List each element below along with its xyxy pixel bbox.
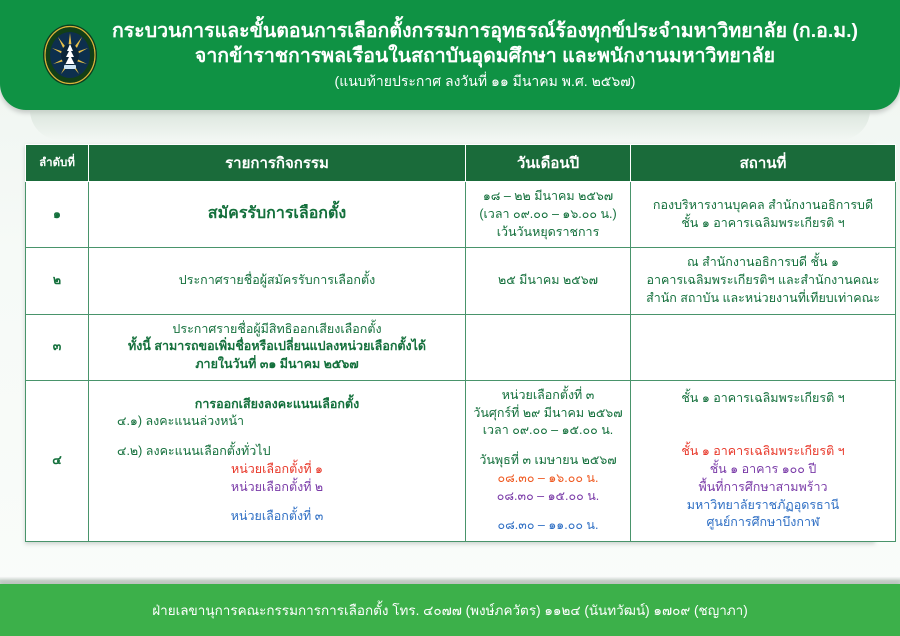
row-2-location-line-2: อาคารเฉลิมพระเกียรติฯ และสำนักงานคณะ <box>647 273 880 287</box>
row-4-location-4: มหาวิทยาลัยราชภัฏอุดรธานี <box>637 497 889 515</box>
page-title-line-2: จากข้าราชการพลเรือนในสถาบันอุดมศึกษา และ… <box>112 44 858 68</box>
row-1-date-line-1: ๑๘ – ๒๒ มีนาคม ๒๕๖๗ <box>483 189 613 203</box>
table-header: ลำดับที่ รายการกิจกรรม วันเดือนปี สถานที… <box>26 145 896 182</box>
header-banner: กระบวนการและขั้นตอนการเลือกตั้งกรรมการอุ… <box>0 0 900 110</box>
column-header-activity: รายการกิจกรรม <box>89 145 466 182</box>
row-4-unit-3-label: หน่วยเลือกตั้งที่ ๓ <box>95 508 459 526</box>
footer-separator <box>0 576 900 584</box>
row-3-no: ๓ <box>26 314 89 380</box>
header-title-block: กระบวนการและขั้นตอนการเลือกตั้งกรรมการอุ… <box>112 19 858 90</box>
row-2-date-line-1: ๒๕ มีนาคม ๒๕๖๗ <box>498 273 598 287</box>
row-1-date: ๑๘ – ๒๒ มีนาคม ๒๕๖๗ (เวลา ๐๙.๐๐ – ๑๖.๐๐ … <box>466 182 631 248</box>
row-4-general-date-header: วันพุธที่ ๓ เมษายน ๒๕๖๗ <box>472 452 624 470</box>
row-3-activity-line-2: ทั้งนี้ สามารถขอเพิ่มชื่อหรือเปลี่ยนแปลง… <box>128 339 426 353</box>
table-row: ๓ ประกาศรายชื่อผู้มีสิทธิออกเสียงเลือกตั… <box>26 314 896 380</box>
row-4-location-spacer-3 <box>637 431 889 443</box>
row-3-activity-line-1: ประกาศรายชื่อผู้มีสิทธิออกเสียงเลือกตั้ง <box>172 322 381 336</box>
row-4-general-activity: ๔.๒) ลงคะแนนเลือกตั้งทั่วไป <box>95 443 459 461</box>
page-title-line-1: กระบวนการและขั้นตอนการเลือกตั้งกรรมการอุ… <box>112 19 858 43</box>
column-header-location: สถานที่ <box>631 145 896 182</box>
table-row: ๒ ประกาศรายชื่อผู้สมัครรับการเลือกตั้ง ๒… <box>26 248 896 314</box>
row-4-activity-spacer <box>95 431 459 443</box>
row-4-time-2: ๐๘.๓๐ – ๑๕.๐๐ น. <box>472 488 624 506</box>
row-4-advance-date-line-2: วันศุกร์ที่ ๒๙ มีนาคม ๒๕๖๗ <box>473 406 622 420</box>
row-1-date-line-2: (เวลา ๐๙.๐๐ – ๑๖.๐๐ น.) <box>479 207 616 221</box>
row-4-advance-location-line-1: ชั้น ๑ อาคารเฉลิมพระเกียรติ ฯ <box>681 391 844 405</box>
footer-bar: ฝ่ายเลขานุการคณะกรรมการการเลือกตั้ง โทร.… <box>0 584 900 636</box>
row-4-unit-2-label: หน่วยเลือกตั้งที่ ๒ <box>95 479 459 497</box>
row-4-location-1: ชั้น ๑ อาคารเฉลิมพระเกียรติ ฯ <box>637 443 889 461</box>
row-1-location: กองบริหารงานบุคคล สำนักงานอธิการบดี ชั้น… <box>631 182 896 248</box>
row-3-location <box>631 314 896 380</box>
header-inner: กระบวนการและขั้นตอนการเลือกตั้งกรรมการอุ… <box>42 19 858 90</box>
row-4-date-spacer-1 <box>472 440 624 452</box>
row-3-date <box>466 314 631 380</box>
university-seal-icon <box>42 24 98 86</box>
row-3-activity: ประกาศรายชื่อผู้มีสิทธิออกเสียงเลือกตั้ง… <box>89 314 466 380</box>
row-4-no: ๔ <box>26 380 89 541</box>
row-3-activity-line-3: ภายในวันที่ ๓๑ มีนาคม ๒๕๖๗ <box>195 357 358 371</box>
row-2-date: ๒๕ มีนาคม ๒๕๖๗ <box>466 248 631 314</box>
row-1-date-line-3: เว้นวันหยุดราชการ <box>497 225 600 239</box>
schedule-table: ลำดับที่ รายการกิจกรรม วันเดือนปี สถานที… <box>25 144 896 542</box>
table-row: ๔ การออกเสียงลงคะแนนเลือกตั้ง ๔.๑) ลงคะแ… <box>26 380 896 541</box>
table-body: ๑ สมัครรับการเลือกตั้ง ๑๘ – ๒๒ มีนาคม ๒๕… <box>26 182 896 542</box>
row-4-location-3: พื้นที่การศึกษาสามพร้าว <box>637 479 889 497</box>
row-2-location-line-3: สำนัก สถาบัน และหน่วยงานที่เทียบเท่าคณะ <box>646 291 880 305</box>
table-header-row: ลำดับที่ รายการกิจกรรม วันเดือนปี สถานที… <box>26 145 896 182</box>
column-header-no: ลำดับที่ <box>26 145 89 182</box>
row-4-unit-spacer <box>95 496 459 508</box>
row-2-no: ๒ <box>26 248 89 314</box>
row-4-date-spacer-2 <box>472 505 624 517</box>
row-1-activity-text: สมัครรับการเลือกตั้ง <box>208 205 346 222</box>
row-2-location: ณ สำนักงานอธิการบดี ชั้น ๑ อาคารเฉลิมพระ… <box>631 248 896 314</box>
table-row: ๑ สมัครรับการเลือกตั้ง ๑๘ – ๒๒ มีนาคม ๒๕… <box>26 182 896 248</box>
page-subtitle: (แนบท้ายประกาศ ลงวันที่ ๑๑ มีนาคม พ.ศ. ๒… <box>112 73 858 91</box>
row-4-time-3: ๐๘.๓๐ – ๑๑.๐๐ น. <box>472 517 624 535</box>
row-1-location-line-2: ชั้น ๑ อาคารเฉลิมพระเกียรติ ฯ <box>681 216 844 230</box>
column-header-date: วันเดือนปี <box>466 145 631 182</box>
row-4-location: ชั้น ๑ อาคารเฉลิมพระเกียรติ ฯ ชั้น ๑ อาค… <box>631 380 896 541</box>
row-4-location-2: ชั้น ๑ อาคาร ๑๐๐ ปี <box>637 461 889 479</box>
footer-contact-text: ฝ่ายเลขานุการคณะกรรมการการเลือกตั้ง โทร.… <box>152 599 748 621</box>
row-4-activity: การออกเสียงลงคะแนนเลือกตั้ง ๔.๑) ลงคะแนน… <box>89 380 466 541</box>
row-4-unit-1-label: หน่วยเลือกตั้งที่ ๑ <box>95 461 459 479</box>
row-4-advance-date-line-1: หน่วยเลือกตั้งที่ ๓ <box>502 388 595 402</box>
row-1-no: ๑ <box>26 182 89 248</box>
schedule-table-wrapper: ลำดับที่ รายการกิจกรรม วันเดือนปี สถานที… <box>25 144 875 542</box>
row-4-location-spacer-1 <box>637 407 889 419</box>
row-4-time-1: ๐๘.๓๐ – ๑๖.๐๐ น. <box>472 470 624 488</box>
row-4-location-spacer-2 <box>637 419 889 431</box>
row-2-activity: ประกาศรายชื่อผู้สมัครรับการเลือกตั้ง <box>89 248 466 314</box>
row-4-activity-title: การออกเสียงลงคะแนนเลือกตั้ง <box>195 397 359 411</box>
row-1-location-line-1: กองบริหารงานบุคคล สำนักงานอธิการบดี <box>653 198 873 212</box>
header-sheen <box>30 110 870 140</box>
row-4-location-5: ศูนย์การศึกษาบึงกาฬ <box>637 514 889 532</box>
row-1-activity: สมัครรับการเลือกตั้ง <box>89 182 466 248</box>
row-4-advance-activity: ๔.๑) ลงคะแนนล่วงหน้า <box>95 413 459 431</box>
row-4-date: หน่วยเลือกตั้งที่ ๓ วันศุกร์ที่ ๒๙ มีนาค… <box>466 380 631 541</box>
row-4-advance-date-line-3: เวลา ๐๙.๐๐ – ๑๕.๐๐ น. <box>483 423 613 437</box>
row-2-location-line-1: ณ สำนักงานอธิการบดี ชั้น ๑ <box>687 255 839 269</box>
